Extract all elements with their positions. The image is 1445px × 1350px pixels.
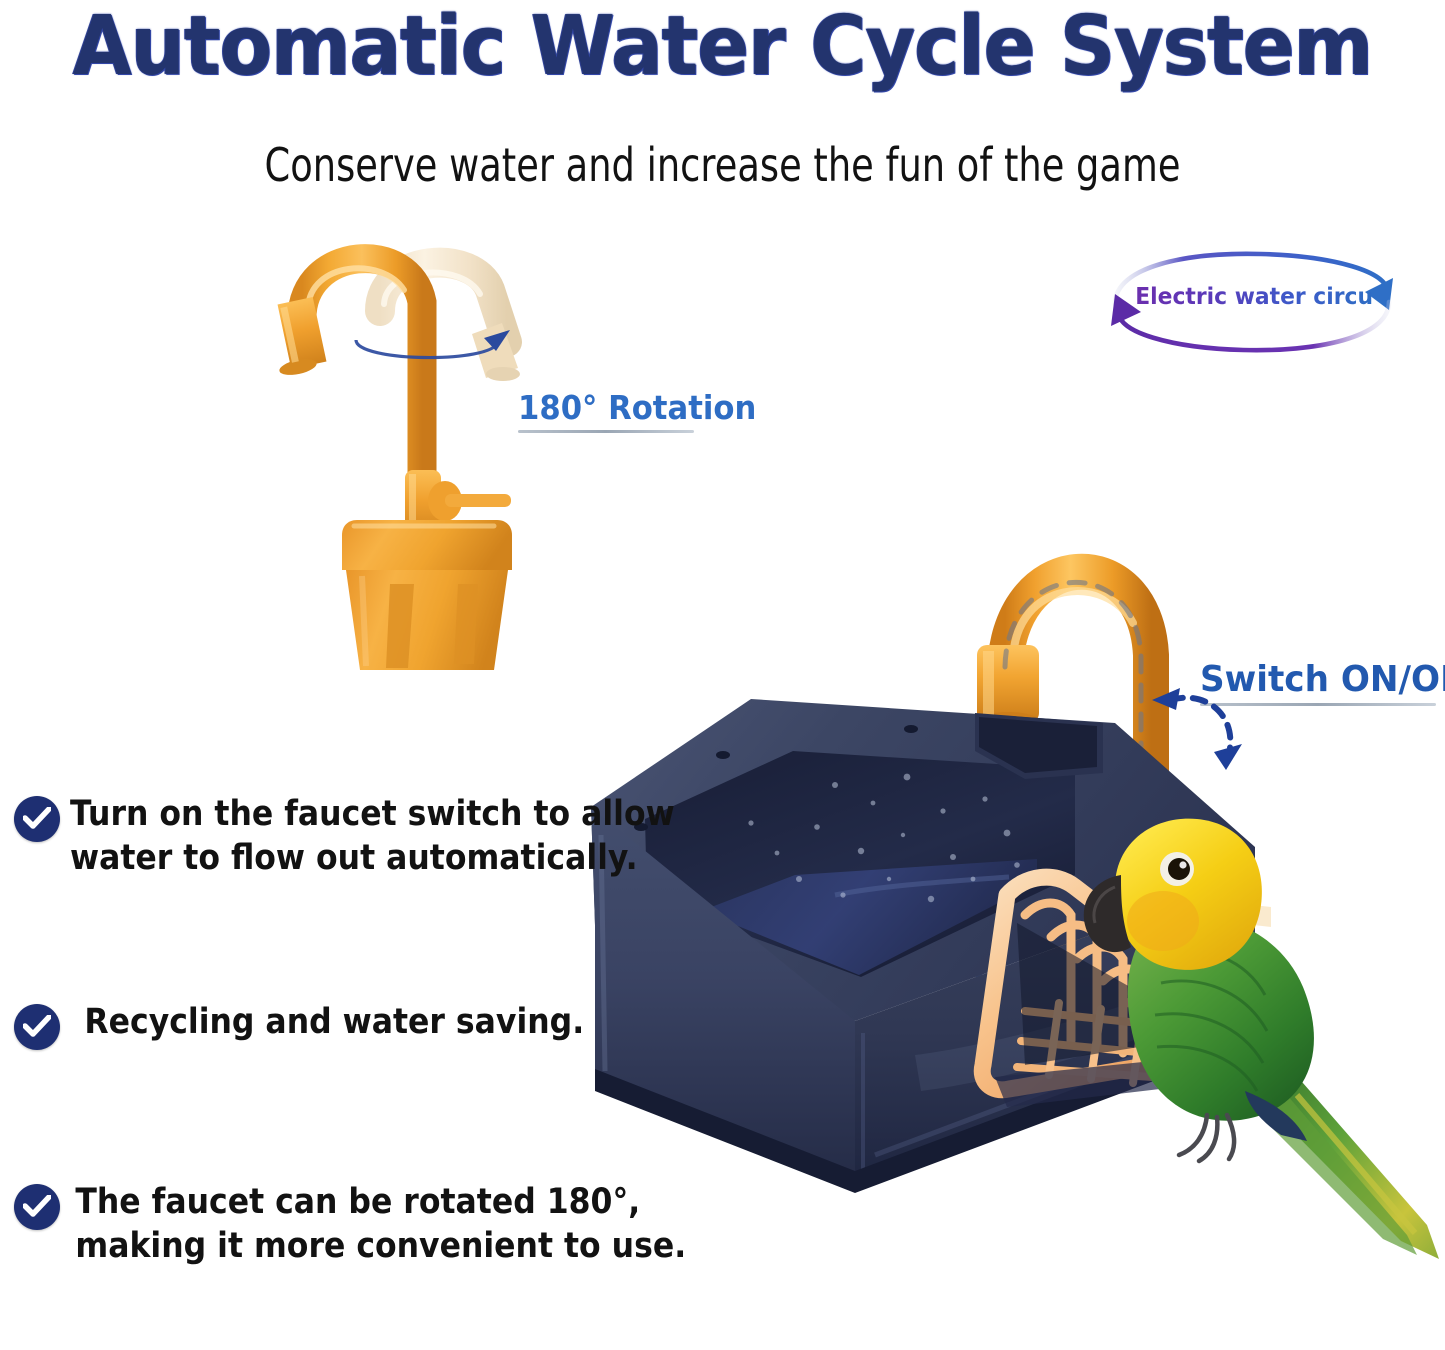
rotation-callout-underline — [518, 430, 694, 433]
feature-item-2-label: Recycling and water saving. — [70, 1000, 584, 1044]
bird-sun-conure — [1084, 819, 1439, 1259]
feature-item-3: The faucet can be rotated 180°, making i… — [14, 1180, 814, 1268]
feature-item-3-label: The faucet can be rotated 180°, making i… — [70, 1180, 740, 1268]
rotation-callout: 180° Rotation — [518, 388, 774, 433]
check-circle-icon — [14, 1004, 60, 1050]
drain-hole — [716, 751, 730, 759]
feature-item-1: Turn on the faucet switch to allow water… — [14, 792, 834, 880]
dashed-toggle-arrow-icon — [1142, 676, 1252, 786]
page-title: Automatic Water Cycle System — [51, 4, 1395, 90]
feature-item-2: Recycling and water saving. — [14, 1000, 714, 1050]
check-circle-icon — [14, 796, 60, 842]
faucet-aerator — [278, 297, 327, 378]
circulation-callout: Electric water circulation — [1093, 248, 1413, 358]
rotation-callout-label: 180° Rotation — [518, 388, 756, 427]
page-subtitle: Conserve water and increase the fun of t… — [145, 139, 1301, 191]
drain-hole — [904, 725, 918, 733]
faucet-rotation-illustration — [262, 218, 592, 678]
switch-toggle-arrow-wrap — [1142, 676, 1252, 786]
check-circle-icon — [14, 1184, 60, 1230]
bird-foot — [1179, 1115, 1234, 1161]
circulation-callout-label: Electric water circulation — [1135, 284, 1373, 310]
faucet-base — [342, 520, 512, 670]
feature-item-1-label: Turn on the faucet switch to allow water… — [70, 792, 758, 880]
bird-eye — [1160, 852, 1194, 886]
bird-head — [1115, 819, 1262, 970]
infographic-canvas: Automatic Water Cycle System Conserve wa… — [0, 0, 1445, 1350]
